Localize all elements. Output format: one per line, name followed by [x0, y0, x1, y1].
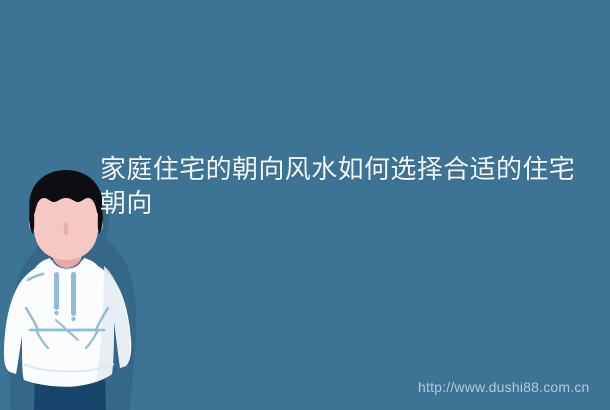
article-cover-banner: 家庭住宅的朝向风水如何选择合适的住宅朝向 http://www.dushi88.… [0, 0, 610, 410]
drawstring-right [71, 272, 76, 316]
drawstring-left [54, 272, 59, 310]
hair-sideburn-left [29, 208, 34, 234]
page-title: 家庭住宅的朝向风水如何选择合适的住宅朝向 [100, 152, 590, 220]
drawstring-tip-right [71, 317, 75, 321]
watermark-url: http://www.dushi88.com.cn [418, 379, 590, 395]
drawstring-tip-left [54, 311, 58, 315]
